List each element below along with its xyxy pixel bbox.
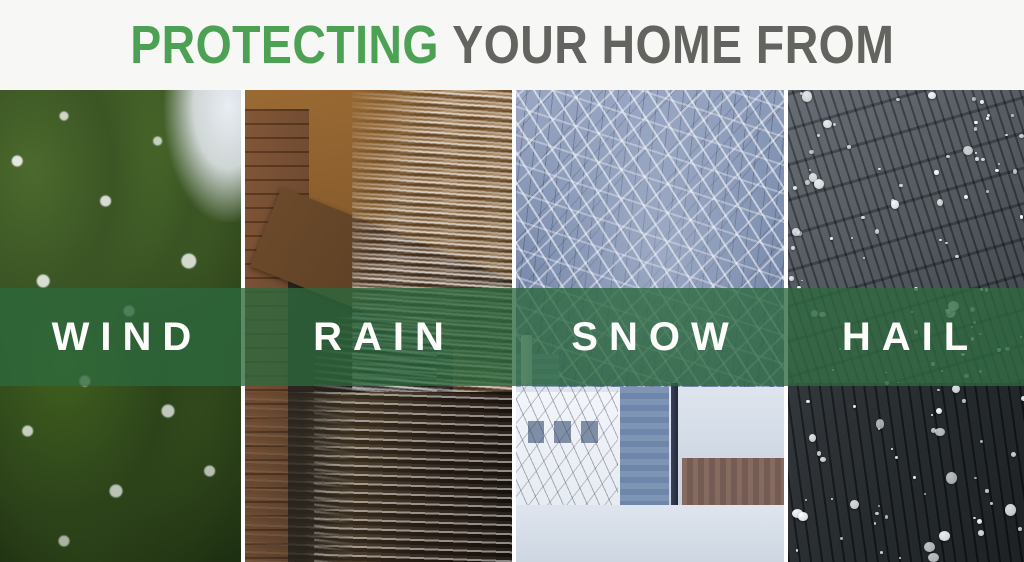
hailstone <box>809 169 811 171</box>
hailstone <box>875 229 879 234</box>
hailstone <box>840 537 843 540</box>
hailstone <box>791 246 795 250</box>
hailstone <box>1013 169 1017 174</box>
panel-hail[interactable] <box>788 90 1024 562</box>
hailstone <box>934 170 938 175</box>
hailstone <box>980 100 984 104</box>
hailstone <box>819 312 826 318</box>
hailstone <box>809 434 816 442</box>
hailstone <box>1018 527 1022 531</box>
hailstone <box>861 216 865 220</box>
hailstone <box>792 228 800 236</box>
hailstone <box>997 348 1000 352</box>
hailstone <box>878 505 880 507</box>
title-rest-text: YOUR HOME FROM <box>452 15 894 75</box>
hailstone <box>963 146 973 155</box>
hailstone <box>946 472 957 484</box>
hailstone <box>891 448 893 450</box>
hailstone <box>878 168 881 171</box>
hailstone <box>974 121 978 125</box>
title-accent-text: PROTECTING <box>130 15 439 75</box>
hailstone <box>875 512 879 516</box>
hailstone <box>1011 452 1016 457</box>
hailstone <box>955 255 959 258</box>
hail-image <box>788 90 1024 562</box>
hailstone <box>1005 134 1008 136</box>
hailstone <box>946 309 951 314</box>
hailstone <box>820 457 826 462</box>
hailstone <box>876 419 885 429</box>
title-bar: PROTECTING YOUR HOME FROM <box>0 0 1024 90</box>
hailstone <box>937 199 943 206</box>
hailstone <box>895 456 898 459</box>
hailstone <box>973 517 976 519</box>
panel-divider <box>241 90 243 562</box>
hailstone <box>935 428 945 436</box>
hailstone <box>986 190 989 193</box>
hailstone <box>874 522 877 525</box>
hailstone <box>805 180 810 185</box>
hailstone <box>806 400 810 404</box>
hailstone <box>978 530 985 536</box>
panel-strip <box>0 90 1024 562</box>
hailstone <box>985 489 990 493</box>
panel-snow[interactable] <box>516 90 784 562</box>
hailstone <box>939 531 950 541</box>
panel-divider <box>512 90 514 562</box>
hailstone <box>809 150 814 154</box>
hailstone <box>913 476 916 479</box>
hailstone <box>1019 134 1024 138</box>
hailstone <box>952 385 960 393</box>
hailstone <box>823 120 832 129</box>
hailstone <box>1020 215 1023 219</box>
hailstone <box>896 98 900 101</box>
hailstone <box>831 498 833 500</box>
hailstone <box>832 369 834 371</box>
hailstone <box>970 307 975 312</box>
hailstone <box>891 200 900 210</box>
hailstone <box>851 237 853 239</box>
hailstone <box>885 372 887 374</box>
hailstone <box>998 163 1000 165</box>
hailstone <box>928 553 939 562</box>
hailstone <box>911 311 913 313</box>
hailstone <box>1005 504 1016 516</box>
hailstone <box>939 239 941 241</box>
rain-image <box>245 90 512 562</box>
hailstone <box>897 382 899 384</box>
hailstone <box>995 169 999 173</box>
hailstone <box>941 370 944 372</box>
hailstone <box>885 381 889 385</box>
hailstone <box>853 405 856 408</box>
hailstone <box>974 477 976 479</box>
hailstone <box>924 542 935 553</box>
hailstone <box>946 155 950 159</box>
hailstone <box>802 91 812 102</box>
hailstone <box>1020 336 1022 338</box>
hailstone <box>964 374 969 378</box>
hailstone <box>1011 114 1014 117</box>
hailstone <box>914 287 918 291</box>
hailstone <box>811 310 818 318</box>
hailstone <box>914 330 918 334</box>
hailstone <box>962 399 965 402</box>
hailstone <box>924 493 926 495</box>
hailstone <box>830 237 833 240</box>
hailstone <box>885 515 889 519</box>
hailstone <box>931 414 933 416</box>
hailstone <box>931 362 934 366</box>
hailstone <box>839 348 841 350</box>
hailstone <box>833 123 836 126</box>
hailstone <box>979 333 982 336</box>
hailstone <box>789 276 794 281</box>
rain-streaks-lower <box>245 392 512 562</box>
hailstone <box>814 179 824 188</box>
hailstone <box>1005 347 1009 351</box>
hailstone <box>850 500 859 509</box>
hailstone <box>798 512 808 521</box>
hailstone <box>961 353 965 357</box>
hailstone <box>964 195 968 199</box>
hailstone <box>863 257 865 259</box>
hailstone <box>936 408 942 414</box>
hailstone <box>899 557 901 559</box>
hailstone <box>796 549 799 552</box>
snow-drift <box>516 505 784 562</box>
hailstone <box>805 499 807 501</box>
hailstone <box>971 326 973 328</box>
page-title: PROTECTING YOUR HOME FROM <box>130 17 894 73</box>
hailstone <box>971 337 974 340</box>
hailstone <box>975 157 978 161</box>
video-frame: PROTECTING YOUR HOME FROM <box>0 0 1024 562</box>
hailstone <box>945 242 948 245</box>
hailstone <box>817 451 821 456</box>
hailstone <box>986 117 989 120</box>
hailstone <box>972 97 976 101</box>
hailstone <box>977 519 982 524</box>
hailstone <box>899 184 902 188</box>
hailstone <box>990 502 992 505</box>
hailstone <box>847 145 852 149</box>
hailstone <box>981 158 985 161</box>
hailstone <box>817 134 820 136</box>
sky-gap <box>164 90 241 222</box>
hailstone <box>973 321 976 324</box>
hailstone <box>801 280 803 282</box>
hailstone <box>980 440 983 443</box>
panel-wind[interactable] <box>0 90 241 562</box>
hailstone <box>985 288 988 291</box>
wind-image <box>0 90 241 562</box>
hailstone <box>880 551 883 554</box>
hailstone <box>975 152 977 154</box>
hailstone <box>979 370 982 373</box>
panel-divider <box>784 90 786 562</box>
hailstone <box>980 288 983 291</box>
snow-image <box>516 90 784 562</box>
hailstone <box>928 92 936 99</box>
hailstone <box>793 186 798 191</box>
hailstones <box>788 90 1024 562</box>
panel-rain[interactable] <box>245 90 512 562</box>
hailstone <box>974 127 977 131</box>
hailstone <box>797 286 801 289</box>
hailstone <box>937 389 939 391</box>
